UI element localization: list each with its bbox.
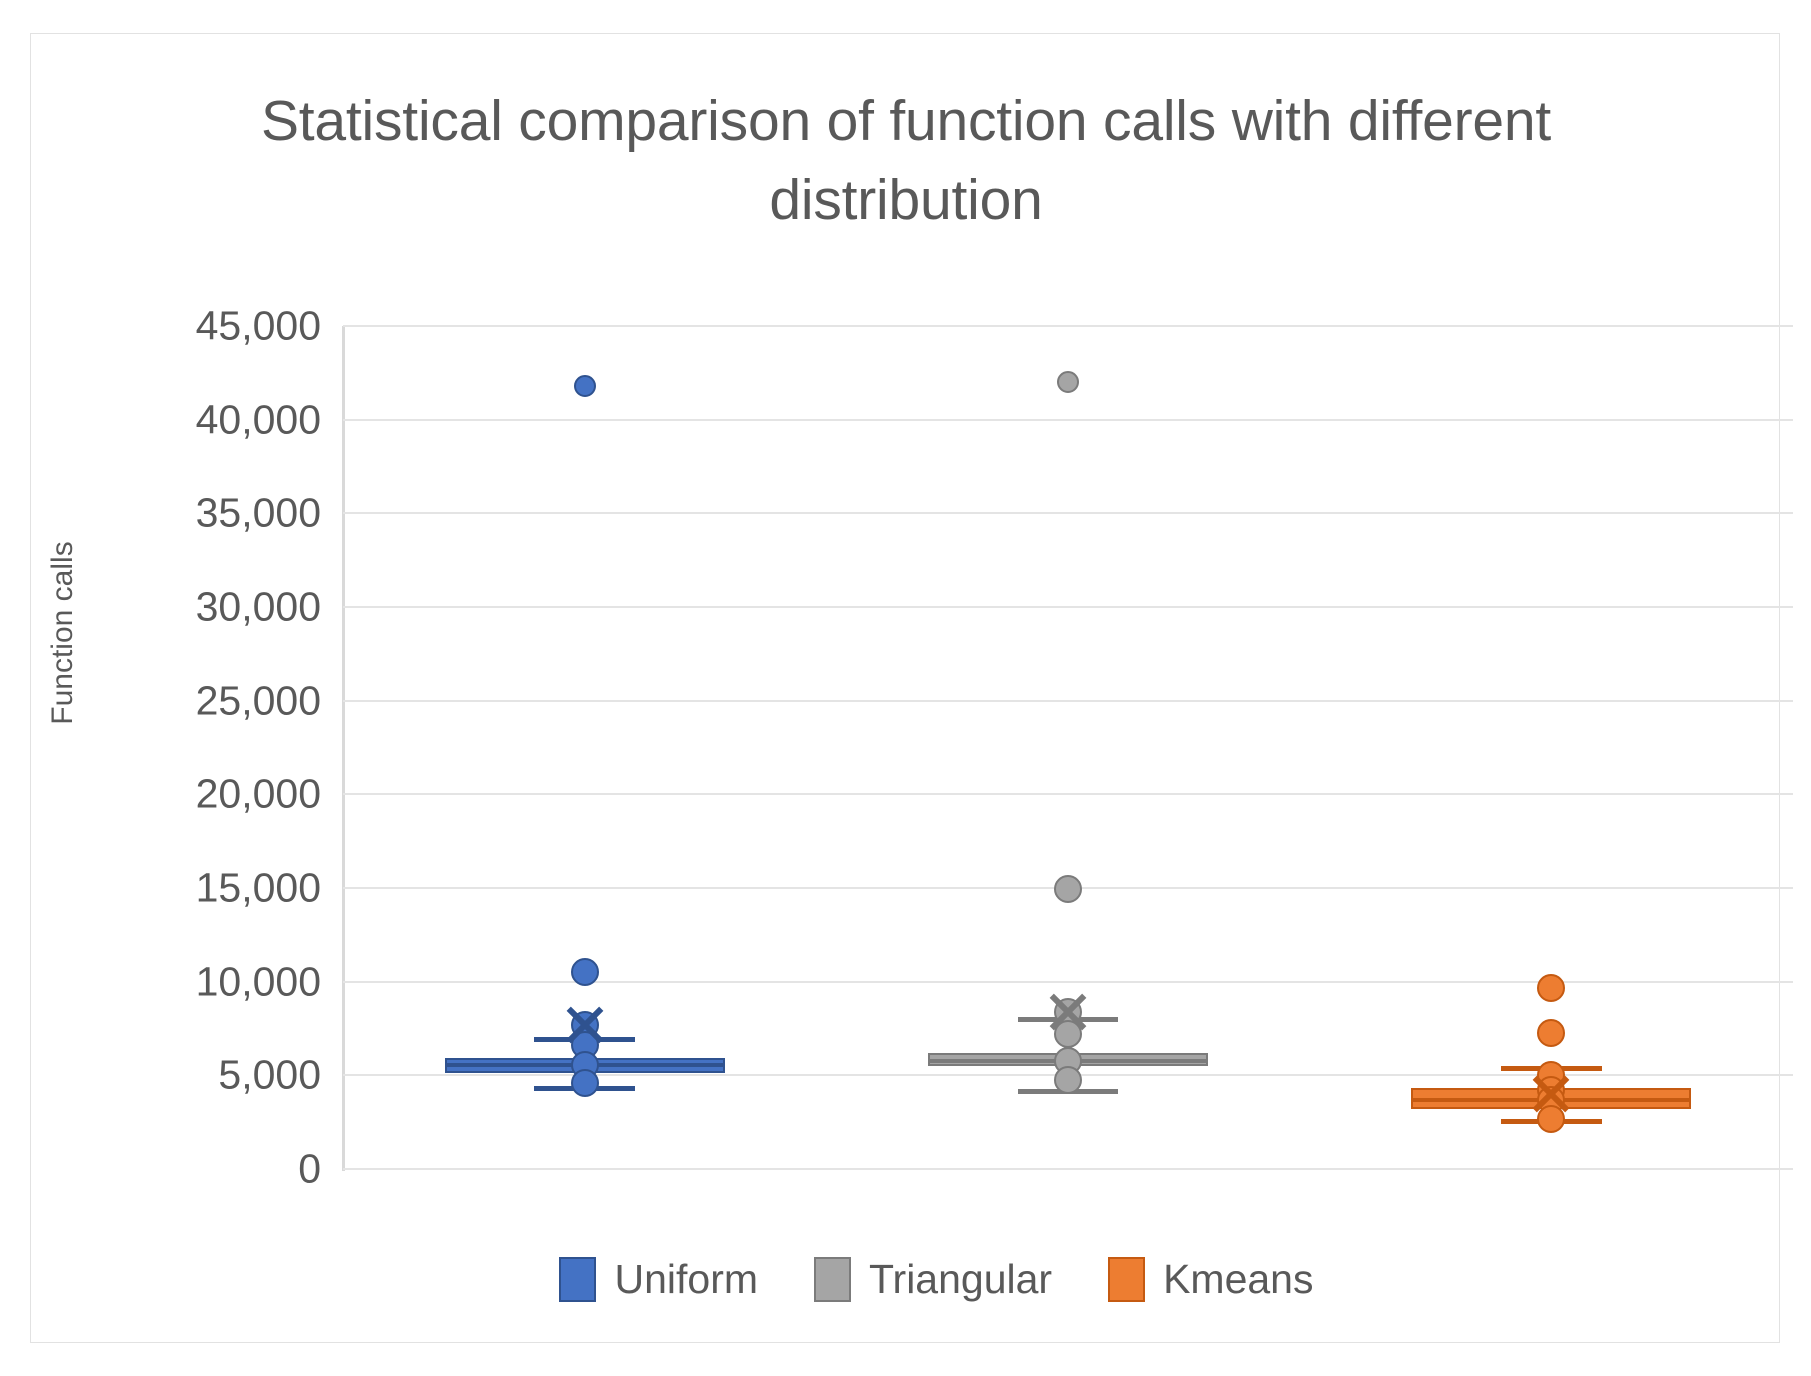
- y-axis-tick-label: 20,000: [91, 771, 321, 818]
- y-axis-tick-labels: 45,00040,00035,00030,00025,00020,00015,0…: [71, 326, 321, 1169]
- y-axis-tick-label: 25,000: [91, 677, 321, 724]
- chart-container: Statistical comparison of function calls…: [30, 33, 1780, 1343]
- legend-label: Triangular: [869, 1256, 1052, 1303]
- legend-item[interactable]: Kmeans: [1108, 1256, 1313, 1303]
- y-axis-tick-label: 45,000: [91, 303, 321, 350]
- outlier-point[interactable]: [1537, 1019, 1565, 1047]
- legend-swatch-icon: [559, 1257, 596, 1302]
- y-axis-tick-label: 10,000: [91, 958, 321, 1005]
- y-axis-tick-label: 40,000: [91, 396, 321, 443]
- legend-swatch-icon: [1108, 1257, 1145, 1302]
- legend-label: Uniform: [614, 1256, 758, 1303]
- legend-swatch-icon: [814, 1257, 851, 1302]
- chart-title: Statistical comparison of function calls…: [141, 82, 1671, 239]
- legend-label: Kmeans: [1163, 1256, 1313, 1303]
- y-axis-tick-label: 5,000: [91, 1052, 321, 1099]
- y-axis-tick-label: 15,000: [91, 865, 321, 912]
- y-axis-tick-label: 0: [91, 1146, 321, 1193]
- legend-item[interactable]: Triangular: [814, 1256, 1052, 1303]
- mean-marker-icon: [1529, 1072, 1573, 1116]
- legend-item[interactable]: Uniform: [559, 1256, 758, 1303]
- outlier-point[interactable]: [1537, 974, 1565, 1002]
- y-axis-tick-label: 30,000: [91, 584, 321, 631]
- plot-area: [343, 326, 1793, 1169]
- box-plot-series[interactable]: [343, 326, 1793, 1169]
- y-axis-tick-label: 35,000: [91, 490, 321, 537]
- chart-legend: UniformTriangularKmeans: [31, 1256, 1811, 1303]
